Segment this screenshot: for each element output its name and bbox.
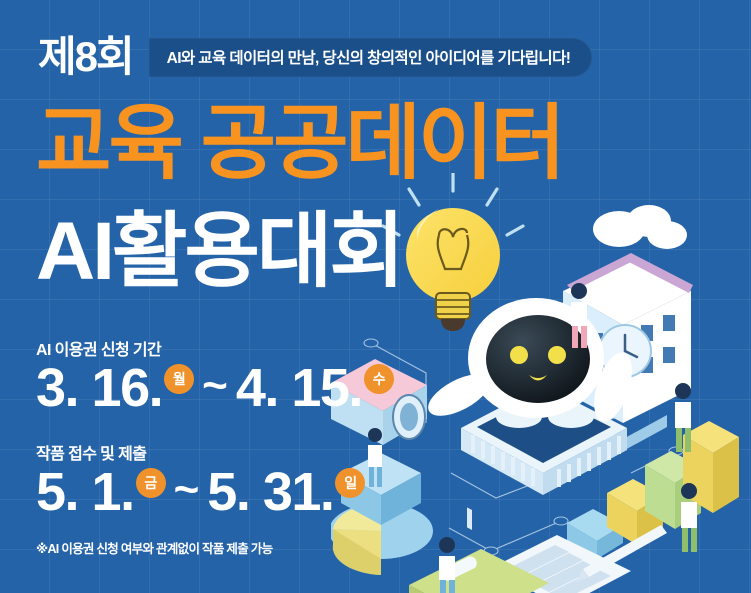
title-line-2: AI활용대회 bbox=[36, 211, 402, 293]
end-date: 5. 31. bbox=[207, 467, 333, 518]
edition-number: 제8회 bbox=[38, 36, 133, 78]
schedule-label: AI 이용권 신청 기간 bbox=[36, 336, 398, 360]
start-day-badge: 월 bbox=[164, 364, 194, 394]
schedule-dates: 5. 1. 금 ~ 5. 31. 일 bbox=[36, 467, 369, 518]
end-day-badge: 일 bbox=[335, 468, 365, 498]
tagline-text: AI와 교육 데이터의 만남, 당신의 창의적인 아이디어를 기다립니다! bbox=[167, 46, 571, 68]
footnote: ※AI 이용권 신청 여부와 관계없이 작품 제출 가능 bbox=[36, 538, 272, 557]
start-day-badge: 금 bbox=[136, 468, 166, 498]
title-line-1: 교육 공공데이터 bbox=[36, 103, 563, 185]
start-date: 5. 1. bbox=[36, 467, 134, 518]
schedule-block-application: AI 이용권 신청 기간 3. 16. 월 ~ 4. 15. 수 bbox=[36, 336, 398, 414]
date-separator: ~ bbox=[174, 468, 200, 512]
schedule-block-submission: 작품 접수 및 제출 5. 1. 금 ~ 5. 31. 일 bbox=[36, 440, 369, 518]
tagline-banner: AI와 교육 데이터의 만남, 당신의 창의적인 아이디어를 기다립니다! bbox=[149, 38, 593, 77]
cloud-shape bbox=[593, 205, 687, 249]
header-row: 제8회 AI와 교육 데이터의 만남, 당신의 창의적인 아이디어를 기다립니다… bbox=[38, 36, 592, 78]
start-date: 3. 16. bbox=[36, 363, 162, 414]
end-date: 4. 15. bbox=[236, 363, 362, 414]
poster: 제8회 AI와 교육 데이터의 만남, 당신의 창의적인 아이디어를 기다립니다… bbox=[0, 0, 751, 593]
end-day-badge: 수 bbox=[364, 364, 394, 394]
schedule-dates: 3. 16. 월 ~ 4. 15. 수 bbox=[36, 363, 398, 414]
robot-eye-left bbox=[510, 346, 528, 364]
schedule-label: 작품 접수 및 제출 bbox=[36, 440, 369, 464]
robot-eye-right bbox=[548, 346, 566, 364]
date-separator: ~ bbox=[202, 364, 228, 408]
